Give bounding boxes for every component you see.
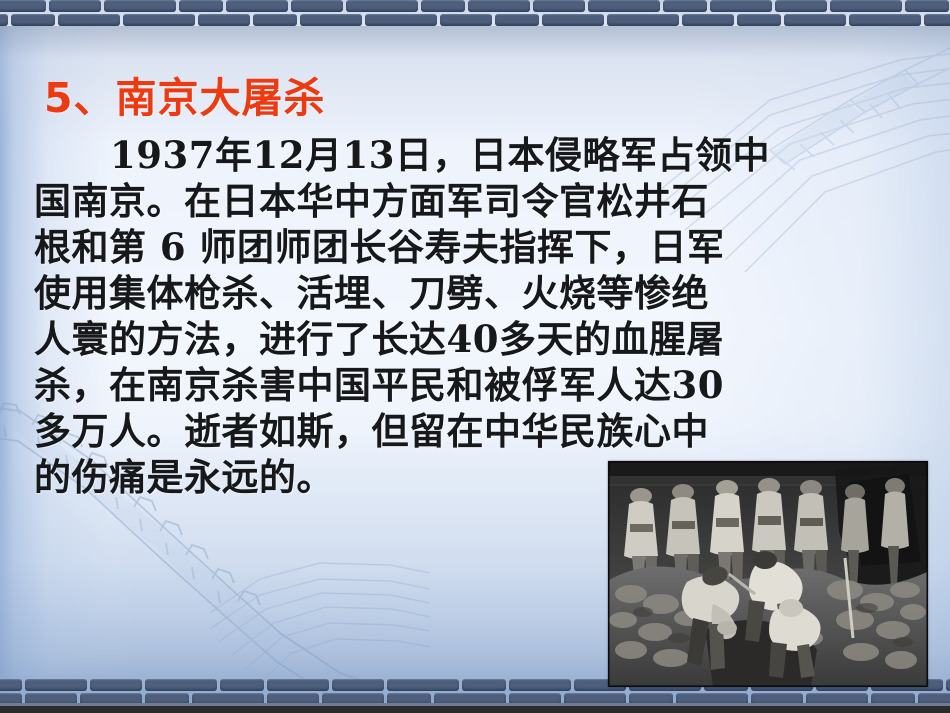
brick	[946, 679, 950, 691]
brick	[25, 679, 87, 691]
brick	[462, 679, 506, 691]
top-brick-border	[0, 0, 950, 26]
brick	[421, 0, 465, 12]
brick	[849, 14, 921, 26]
brick-row-lower	[0, 14, 950, 26]
brick	[533, 0, 585, 12]
brick	[58, 14, 120, 26]
brick	[509, 679, 571, 691]
brick	[542, 14, 604, 26]
brick	[682, 14, 734, 26]
brick	[905, 0, 949, 12]
brick	[737, 14, 781, 26]
historical-photograph	[608, 461, 928, 687]
brick	[11, 14, 55, 26]
brick	[332, 679, 384, 691]
brick	[49, 0, 101, 12]
bottom-dark-strip	[0, 706, 950, 713]
brick	[775, 0, 827, 12]
brick	[784, 14, 846, 26]
brick	[226, 0, 288, 12]
brick	[588, 0, 660, 12]
brick	[495, 14, 539, 26]
brick	[924, 14, 950, 26]
brick	[440, 14, 492, 26]
brick	[0, 679, 22, 691]
brick	[104, 0, 176, 12]
body-line: 多万人。逝者如斯，但留在中华民族心中	[34, 408, 724, 454]
brick	[253, 14, 297, 26]
brick	[123, 14, 195, 26]
brick	[220, 679, 264, 691]
brick	[90, 679, 142, 691]
body-line: 使用集体枪杀、活埋、刀劈、火烧等惨绝	[34, 270, 724, 316]
brick	[830, 0, 902, 12]
presentation-slide: 5、南京大屠杀 1937年12月13日，日本侵略军占领中 国南京。在日本华中方面…	[0, 0, 950, 713]
brick	[267, 679, 329, 691]
body-line: 人寰的方法，进行了长达40多天的血腥屠	[34, 316, 724, 362]
brick	[179, 0, 223, 12]
brick-row-upper	[0, 0, 950, 12]
brick	[300, 14, 362, 26]
brick	[0, 14, 8, 26]
brick	[291, 0, 343, 12]
body-line: 1937年12月13日，日本侵略军占领中	[34, 132, 724, 178]
brick	[145, 679, 217, 691]
brick	[387, 679, 459, 691]
slide-body-text: 1937年12月13日，日本侵略军占领中 国南京。在日本华中方面军司令官松井石 …	[34, 132, 724, 500]
body-line: 国南京。在日本华中方面军司令官松井石	[34, 178, 724, 224]
slide-title: 5、南京大屠杀	[44, 64, 326, 124]
brick	[710, 0, 772, 12]
brick	[0, 0, 46, 12]
brick	[365, 14, 437, 26]
brick	[198, 14, 250, 26]
brick	[468, 0, 530, 12]
brick	[346, 0, 418, 12]
body-line: 杀，在南京杀害中国平民和被俘军人达30	[34, 362, 724, 408]
brick	[663, 0, 707, 12]
brick	[607, 14, 679, 26]
body-line: 根和第 6 师团师团长谷寿夫指挥下，日军	[34, 224, 724, 270]
